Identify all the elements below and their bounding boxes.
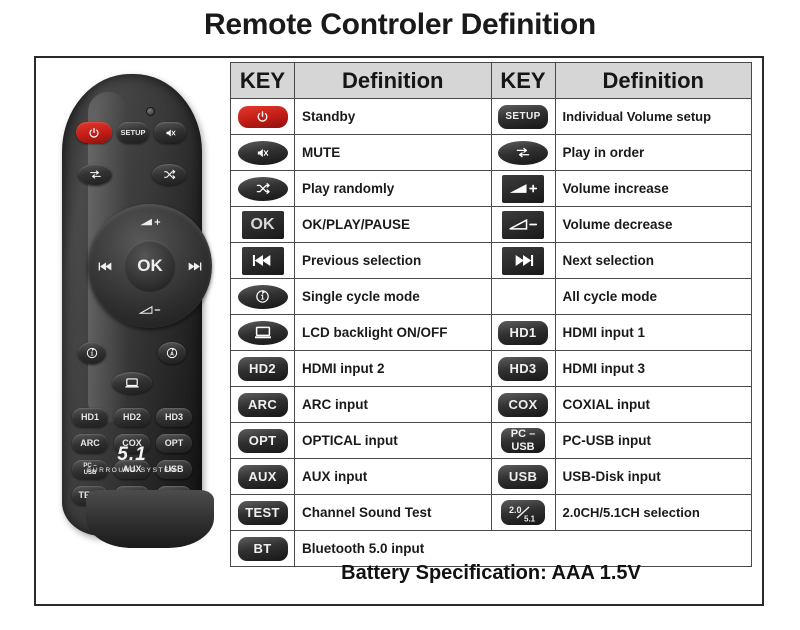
definition-cox: COXIAL input — [555, 387, 752, 423]
key-cell-all-cycle-empty — [491, 279, 555, 315]
table-row: Play randomly Volume increase — [231, 171, 752, 207]
definition-hd2: HDMI input 2 — [295, 351, 492, 387]
shuffle-icon — [162, 168, 177, 181]
ch-bottom-text: 5.1 — [524, 514, 536, 523]
play-order-key-chip — [498, 141, 548, 165]
ch-select-key-chip: 2.0 5.1 — [501, 500, 545, 525]
key-cell-play-order — [491, 135, 555, 171]
header-definition-right: Definition — [555, 63, 752, 99]
setup-key-chip: SETUP — [498, 105, 548, 129]
prev-key-chip — [242, 247, 284, 275]
remote-hd1-button[interactable]: HD1 — [72, 408, 108, 427]
key-cell-mute — [231, 135, 295, 171]
remote-body: SETUP — [62, 74, 202, 536]
play-order-icon — [514, 145, 532, 160]
table-row: OK OK/PLAY/PAUSE Volume decrease — [231, 207, 752, 243]
mute-key-chip — [238, 141, 288, 165]
definition-single-cycle: Single cycle mode — [295, 279, 492, 315]
header-key-left: KEY — [231, 63, 295, 99]
standby-key-chip — [238, 106, 288, 128]
lcd-key-chip — [238, 321, 288, 345]
svg-text:1: 1 — [91, 351, 94, 357]
page-title: Remote Controler Definition — [0, 8, 800, 42]
definition-setup: Individual Volume setup — [555, 99, 752, 135]
remote-battery-cover — [86, 490, 214, 548]
pcusb-chip-line1: PC – — [511, 428, 535, 441]
definition-arc: ARC input — [295, 387, 492, 423]
remote-shuffle-button[interactable] — [152, 164, 186, 185]
key-cell-test: TEST — [231, 495, 295, 531]
aux-key-chip: AUX — [238, 465, 288, 489]
bt-key-chip: BT — [238, 537, 288, 561]
definition-ch-select: 2.0CH/5.1CH selection — [555, 495, 752, 531]
table-row: Previous selection Next selection — [231, 243, 752, 279]
key-cell-volume-down — [491, 207, 555, 243]
key-cell-prev — [231, 243, 295, 279]
definition-play-order: Play in order — [555, 135, 752, 171]
single-cycle-key-chip: 1 — [238, 285, 288, 309]
remote-volume-down-button[interactable] — [122, 302, 178, 318]
table-row: MUTE Play in order — [231, 135, 752, 171]
key-cell-hd3: HD3 — [491, 351, 555, 387]
volume-down-key-chip — [502, 211, 544, 239]
next-icon — [186, 261, 202, 272]
mute-icon — [164, 127, 177, 139]
key-cell-opt: OPT — [231, 423, 295, 459]
ok-key-chip: OK — [242, 211, 284, 239]
prev-icon — [98, 261, 114, 272]
remote-setup-button[interactable]: SETUP — [117, 122, 149, 143]
mute-icon — [255, 146, 270, 160]
definition-aux: AUX input — [295, 459, 492, 495]
header-key-right: KEY — [491, 63, 555, 99]
ch-top-text: 2.0 — [509, 505, 522, 515]
table-row: OPT OPTICAL input PC – USB PC-USB input — [231, 423, 752, 459]
hd2-key-chip: HD2 — [238, 357, 288, 381]
pcusb-key-chip: PC – USB — [501, 428, 545, 453]
arc-key-chip: ARC — [238, 393, 288, 417]
volume-up-icon — [139, 216, 161, 228]
volume-down-icon — [508, 217, 538, 232]
test-key-chip: TEST — [238, 501, 288, 525]
key-cell-next — [491, 243, 555, 279]
remote-control-image: SETUP — [44, 62, 224, 562]
remote-single-cycle-button[interactable]: 1 — [78, 342, 106, 364]
channel-select-icon: 2.0 5.1 — [506, 503, 540, 523]
definition-opt: OPTICAL input — [295, 423, 492, 459]
remote-all-cycle-button[interactable]: A — [158, 342, 186, 364]
key-cell-cox: COX — [491, 387, 555, 423]
header-definition-left: Definition — [295, 63, 492, 99]
lcd-icon — [124, 377, 140, 390]
power-icon — [88, 127, 100, 139]
pcusb-chip-line2: USB — [511, 441, 534, 454]
cox-key-chip: COX — [498, 393, 548, 417]
key-cell-standby — [231, 99, 295, 135]
logo-sub-text: SURROUND SYSTEM — [62, 467, 202, 474]
remote-hd2-button[interactable]: HD2 — [114, 408, 150, 427]
battery-specification: Battery Specification: AAA 1.5V — [230, 562, 752, 585]
key-cell-hd2: HD2 — [231, 351, 295, 387]
definition-ok: OK/PLAY/PAUSE — [295, 207, 492, 243]
hd1-key-chip: HD1 — [498, 321, 548, 345]
remote-lcd-button[interactable] — [112, 372, 152, 394]
table-header-row: KEY Definition KEY Definition — [231, 63, 752, 99]
svg-text:1: 1 — [261, 293, 265, 301]
definition-test: Channel Sound Test — [295, 495, 492, 531]
definition-usb: USB-Disk input — [555, 459, 752, 495]
key-cell-ch-select: 2.0 5.1 — [491, 495, 555, 531]
hd3-key-chip: HD3 — [498, 357, 548, 381]
definition-mute: MUTE — [295, 135, 492, 171]
key-cell-setup: SETUP — [491, 99, 555, 135]
remote-hd3-button[interactable]: HD3 — [156, 408, 192, 427]
key-cell-aux: AUX — [231, 459, 295, 495]
next-key-chip — [502, 247, 544, 275]
definition-pcusb: PC-USB input — [555, 423, 752, 459]
key-cell-hd1: HD1 — [491, 315, 555, 351]
key-cell-shuffle — [231, 171, 295, 207]
ir-led-icon — [146, 107, 155, 116]
single-cycle-icon: 1 — [254, 288, 271, 305]
remote-brand-logo: 5.1 SURROUND SYSTEM — [62, 444, 202, 474]
usb-key-chip: USB — [498, 465, 548, 489]
definition-volume-up: Volume increase — [555, 171, 752, 207]
logo-mark-text: 5.1 — [62, 444, 202, 466]
remote-mute-button[interactable] — [154, 122, 186, 143]
key-cell-usb: USB — [491, 459, 555, 495]
shuffle-icon — [254, 181, 272, 196]
key-cell-single-cycle: 1 — [231, 279, 295, 315]
remote-play-order-button[interactable] — [78, 164, 112, 185]
volume-up-key-chip — [502, 175, 544, 203]
svg-text:A: A — [170, 351, 174, 357]
remote-volume-up-button[interactable] — [122, 214, 178, 230]
shuffle-key-chip — [238, 177, 288, 201]
definition-next: Next selection — [555, 243, 752, 279]
key-cell-lcd — [231, 315, 295, 351]
prev-icon — [252, 253, 274, 268]
definition-standby: Standby — [295, 99, 492, 135]
table-row: AUX AUX input USB USB-Disk input — [231, 459, 752, 495]
table-row: Standby SETUP Individual Volume setup — [231, 99, 752, 135]
key-cell-pcusb: PC – USB — [491, 423, 555, 459]
volume-down-icon — [139, 304, 161, 316]
definition-lcd: LCD backlight ON/OFF — [295, 315, 492, 351]
definition-shuffle: Play randomly — [295, 171, 492, 207]
opt-key-chip: OPT — [238, 429, 288, 453]
definition-all-cycle: All cycle mode — [555, 279, 752, 315]
table-row: TEST Channel Sound Test 2.0 5.1 2.0CH/5.… — [231, 495, 752, 531]
remote-ok-button[interactable]: OK — [124, 240, 176, 292]
definition-prev: Previous selection — [295, 243, 492, 279]
next-icon — [512, 253, 534, 268]
remote-dpad[interactable]: OK — [88, 204, 212, 328]
key-cell-arc: ARC — [231, 387, 295, 423]
remote-next-button[interactable] — [184, 258, 204, 274]
table-row: LCD backlight ON/OFF HD1 HDMI input 1 — [231, 315, 752, 351]
volume-up-icon — [508, 181, 538, 196]
remote-power-button[interactable] — [76, 122, 112, 143]
definition-volume-down: Volume decrease — [555, 207, 752, 243]
play-order-icon — [88, 168, 103, 181]
lcd-icon — [253, 325, 273, 341]
single-cycle-icon: 1 — [85, 346, 99, 360]
definition-hd1: HDMI input 1 — [555, 315, 752, 351]
power-icon — [256, 110, 269, 123]
key-cell-volume-up — [491, 171, 555, 207]
key-definition-table: KEY Definition KEY Definition Standby SE… — [230, 62, 752, 567]
table-row: HD2 HDMI input 2 HD3 HDMI input 3 — [231, 351, 752, 387]
remote-prev-button[interactable] — [96, 258, 116, 274]
definition-hd3: HDMI input 3 — [555, 351, 752, 387]
table-row: 1 Single cycle mode All cycle mode — [231, 279, 752, 315]
key-cell-ok: OK — [231, 207, 295, 243]
all-cycle-icon: A — [165, 346, 179, 360]
table-row: ARC ARC input COX COXIAL input — [231, 387, 752, 423]
